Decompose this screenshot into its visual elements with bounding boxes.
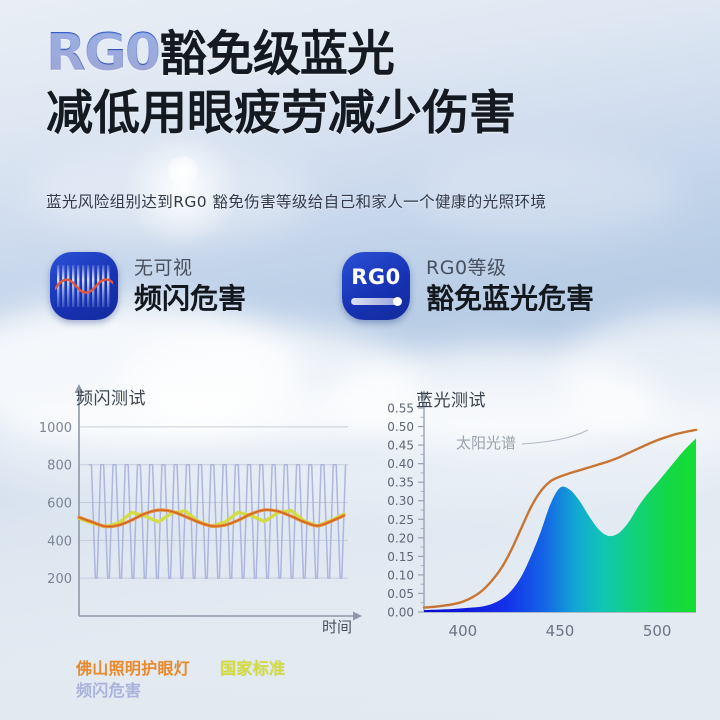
flicker-chart-canvas: 2004006008001000 [34, 378, 364, 648]
bluelight-chart-canvas: 0.000.050.100.150.200.250.300.350.400.45… [374, 382, 704, 642]
badge-no-visible-flicker: 无可视 频闪危害 [50, 252, 246, 320]
bluelight-y-tick: 0.55 [387, 402, 414, 416]
bluelight-y-tick: 0.05 [387, 587, 414, 601]
bluelight-chart-title: 蓝光测试 [416, 386, 486, 411]
flicker-test-chart: 频闪测试 时间 2004006008001000 [34, 378, 364, 648]
rg0-icon-text: RG0 [342, 265, 410, 289]
bluelight-y-tick: 0.10 [387, 568, 414, 582]
legend-item-harm: 频闪危害 [76, 680, 285, 702]
bluelight-y-tick: 0.40 [387, 457, 414, 471]
flicker-y-tick: 800 [47, 459, 72, 474]
bluelight-x-tick: 400 [449, 622, 478, 640]
sun-core [168, 156, 198, 186]
legend-item-device: 佛山照明护眼灯 [76, 658, 190, 680]
bluelight-y-tick: 0.20 [387, 531, 414, 545]
rg0-slider-icon [351, 298, 401, 305]
badge-text-block: RG0等级 豁免蓝光危害 [426, 259, 594, 313]
flicker-waveform-icon [50, 252, 118, 320]
legend-item-standard: 国家标准 [220, 658, 285, 680]
subheadline: 蓝光风险组别达到RG0 豁免伤害等级给自己和家人一个健康的光照环境 [46, 190, 546, 212]
bluelight-y-tick: 0.00 [387, 606, 414, 620]
rg0-rating-icon: RG0 [342, 252, 410, 320]
bluelight-x-tick: 500 [643, 622, 672, 640]
bluelight-y-tick: 0.30 [387, 494, 414, 508]
flicker-series-device [79, 510, 344, 527]
flicker-chart-legend: 佛山照明护眼灯 国家标准 频闪危害 [76, 658, 285, 701]
flicker-y-tick: 400 [47, 534, 72, 549]
bluelight-y-tick: 0.25 [387, 513, 414, 527]
headline-line-1: RG0豁免级蓝光 [46, 26, 516, 81]
flicker-y-tick: 1000 [39, 421, 72, 436]
badge-top-label: RG0等级 [426, 259, 594, 278]
headline-line-1-rest: 豁免级蓝光 [159, 26, 394, 82]
flicker-x-axis-arrow [353, 612, 362, 621]
flicker-chart-title: 频闪测试 [76, 384, 146, 409]
bluelight-y-tick: 0.45 [387, 439, 414, 453]
flicker-x-axis-label: 时间 [322, 616, 352, 637]
headline-rg0-text: RG0 [46, 23, 159, 83]
bluelight-y-tick: 0.50 [387, 420, 414, 434]
badge-main-label: 频闪危害 [134, 285, 246, 313]
badge-top-label: 无可视 [134, 259, 246, 278]
headline-block: RG0豁免级蓝光 减低用眼疲劳减少伤害 [46, 26, 516, 141]
badge-text-block: 无可视 频闪危害 [134, 259, 246, 313]
flicker-sine-icon [55, 265, 113, 307]
bluelight-test-chart: 蓝光测试 0.000.050.100.150.200.250.300.350.4… [374, 382, 704, 642]
flicker-y-tick: 600 [47, 497, 72, 512]
feature-badges: 无可视 频闪危害 RG0 RG0等级 豁免蓝光危害 [0, 252, 720, 320]
badge-main-label: 豁免蓝光危害 [426, 285, 594, 313]
bluelight-x-tick: 450 [546, 622, 575, 640]
bluelight-annotation-label: 太阳光谱 [456, 434, 516, 452]
poster-root: RG0豁免级蓝光 减低用眼疲劳减少伤害 蓝光风险组别达到RG0 豁免伤害等级给自… [0, 0, 720, 720]
flicker-y-tick: 200 [47, 572, 72, 587]
bluelight-spectrum-area [424, 438, 696, 612]
bluelight-y-tick: 0.15 [387, 550, 414, 564]
headline-line-2: 减低用眼疲劳减少伤害 [46, 87, 516, 141]
legend-row-primary: 佛山照明护眼灯 国家标准 [76, 658, 285, 680]
badge-rg0-rating: RG0 RG0等级 豁免蓝光危害 [342, 252, 594, 320]
bluelight-y-tick: 0.35 [387, 476, 414, 490]
bluelight-annotation-leader [522, 430, 588, 444]
rg0-slider-knob [393, 297, 402, 306]
